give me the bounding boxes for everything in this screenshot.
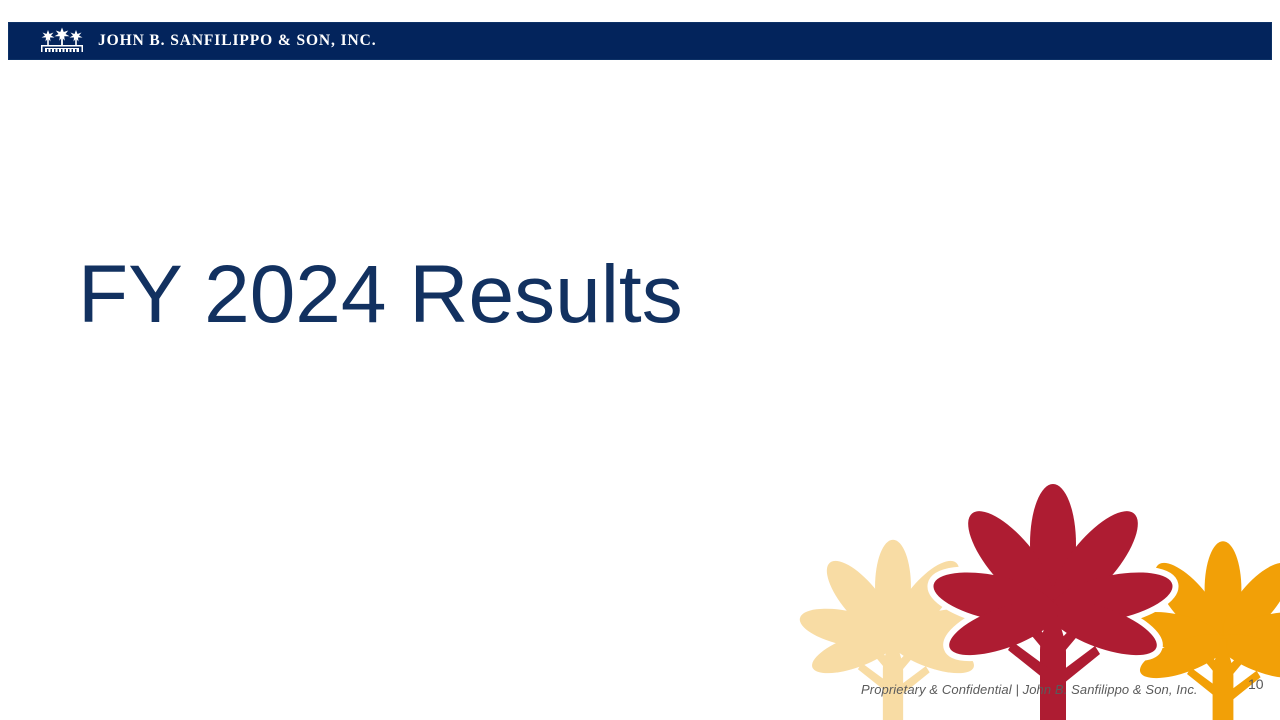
slide-title: FY 2024 Results — [78, 252, 683, 339]
header-bar: JOHN B. SANFILIPPO & SON, INC. — [8, 22, 1272, 60]
footer-confidentiality-note: Proprietary & Confidential | John B. San… — [861, 682, 1198, 697]
tree-artwork — [795, 420, 1280, 720]
three-trees-illustration — [795, 420, 1280, 720]
presentation-slide: JOHN B. SANFILIPPO & SON, INC. FY 2024 R… — [0, 0, 1280, 720]
company-name: JOHN B. SANFILIPPO & SON, INC. — [98, 33, 376, 49]
three-trees-orchard-logo-icon — [38, 26, 86, 56]
page-number: 10 — [1248, 676, 1264, 692]
